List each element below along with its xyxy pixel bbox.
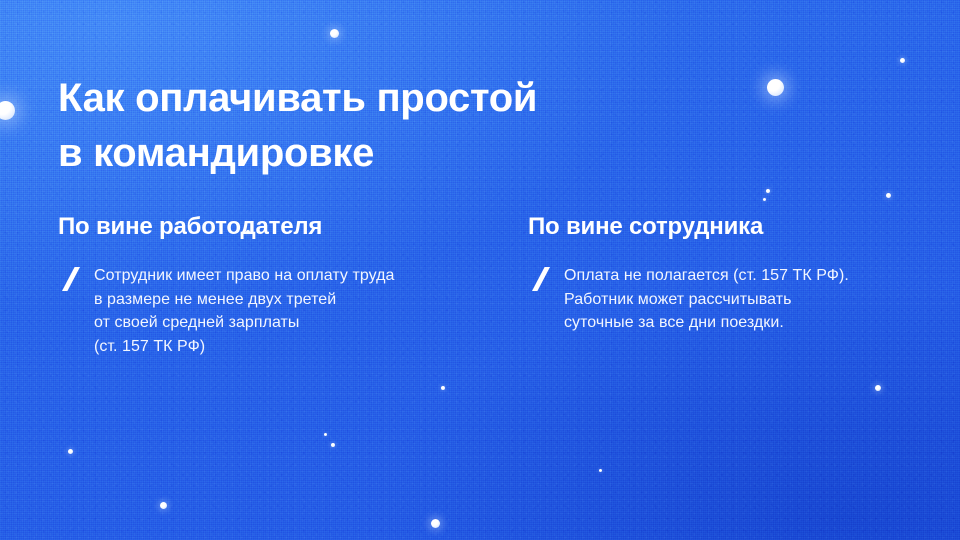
bullet-item-employee: Оплата не полагается (ст. 157 ТК РФ). Ра…: [528, 264, 928, 335]
bullet-text-employer: Сотрудник имеет право на оплату труда в …: [94, 264, 498, 358]
column-heading-employee: По вине сотрудника: [528, 212, 928, 242]
column-heading-employer: По вине работодателя: [58, 212, 498, 242]
bullet-text-employee: Оплата не полагается (ст. 157 ТК РФ). Ра…: [564, 264, 928, 335]
bullet-item-employer: Сотрудник имеет право на оплату труда в …: [58, 264, 498, 358]
slash-icon: [532, 267, 550, 291]
column-employee-fault: По вине сотрудника Оплата не полагается …: [528, 212, 928, 351]
slide-title: Как оплачивать простой в командировке: [58, 71, 698, 181]
slash-icon: [62, 267, 80, 291]
slide-content: Как оплачивать простой в командировке По…: [0, 0, 960, 540]
column-employer-fault: По вине работодателя Сотрудник имеет пра…: [58, 212, 498, 374]
presentation-slide: Как оплачивать простой в командировке По…: [0, 0, 960, 540]
